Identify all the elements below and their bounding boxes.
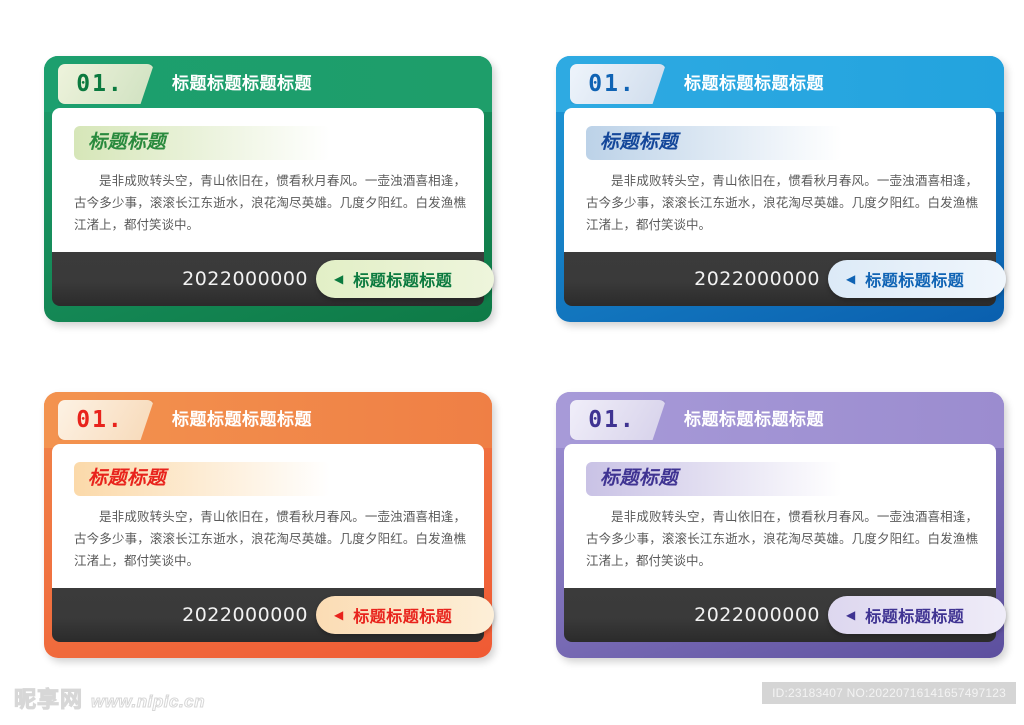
card-action-button-label: 标题标题标题 <box>865 267 964 291</box>
image-id-badge: ID:23183407 NO:20220716141657497123 <box>762 682 1016 704</box>
card-action-button-label: 标题标题标题 <box>353 603 452 627</box>
card-header-title: 标题标题标题标题 <box>684 56 824 112</box>
card-action-button[interactable]: ◀标题标题标题 <box>316 260 494 298</box>
card-footer: 2022000000◀标题标题标题 <box>564 588 996 642</box>
card-number-text: 01. <box>570 64 654 104</box>
card-footer: 2022000000◀标题标题标题 <box>564 252 996 306</box>
card-body: 标题标题是非成败转头空，青山依旧在，惯看秋月春风。一壶浊酒喜相逢，古今多少事，滚… <box>52 444 484 588</box>
card-subheading-text: 标题标题 <box>600 462 678 496</box>
nipic-logo-url: www.nipic.cn <box>91 692 205 712</box>
card-body: 标题标题是非成败转头空，青山依旧在，惯看秋月春风。一壶浊酒喜相逢，古今多少事，滚… <box>564 444 996 588</box>
card-subheading-highlight: 标题标题 <box>74 126 330 160</box>
arrow-left-icon: ◀ <box>334 609 343 621</box>
card-number-text: 01. <box>58 64 142 104</box>
watermark-bar: 昵享网 www.nipic.cn ID:23183407 NO:20220716… <box>0 672 1024 725</box>
card-subheading-highlight: 标题标题 <box>74 462 330 496</box>
info-card-blue: 01.标题标题标题标题标题标题是非成败转头空，青山依旧在，惯看秋月春风。一壶浊酒… <box>556 56 1004 322</box>
card-number-text: 01. <box>570 400 654 440</box>
arrow-left-icon: ◀ <box>334 273 343 285</box>
card-number-badge: 01. <box>58 64 154 104</box>
card-action-button-label: 标题标题标题 <box>865 603 964 627</box>
card-slot: 01.标题标题标题标题标题标题是非成败转头空，青山依旧在，惯看秋月春风。一壶浊酒… <box>0 336 512 672</box>
card-header-title: 标题标题标题标题 <box>172 56 312 112</box>
card-slot: 01.标题标题标题标题标题标题是非成败转头空，青山依旧在，惯看秋月春风。一壶浊酒… <box>512 0 1024 336</box>
card-action-button[interactable]: ◀标题标题标题 <box>828 596 1006 634</box>
card-slot: 01.标题标题标题标题标题标题是非成败转头空，青山依旧在，惯看秋月春风。一壶浊酒… <box>512 336 1024 672</box>
card-action-button-label: 标题标题标题 <box>353 267 452 291</box>
card-header-title: 标题标题标题标题 <box>172 392 312 448</box>
card-footer-number: 2022000000 <box>694 252 820 306</box>
card-number-badge: 01. <box>58 400 154 440</box>
card-subheading-text: 标题标题 <box>88 462 166 496</box>
card-footer-number: 2022000000 <box>694 588 820 642</box>
nipic-logo: 昵享网 www.nipic.cn <box>14 682 205 714</box>
card-body: 标题标题是非成败转头空，青山依旧在，惯看秋月春风。一壶浊酒喜相逢，古今多少事，滚… <box>564 108 996 252</box>
info-card-purple: 01.标题标题标题标题标题标题是非成败转头空，青山依旧在，惯看秋月春风。一壶浊酒… <box>556 392 1004 658</box>
arrow-left-icon: ◀ <box>846 609 855 621</box>
card-number-badge: 01. <box>570 64 666 104</box>
info-card-orange: 01.标题标题标题标题标题标题是非成败转头空，青山依旧在，惯看秋月春风。一壶浊酒… <box>44 392 492 658</box>
card-body-text: 是非成败转头空，青山依旧在，惯看秋月春风。一壶浊酒喜相逢，古今多少事，滚滚长江东… <box>586 506 978 572</box>
card-body: 标题标题是非成败转头空，青山依旧在，惯看秋月春风。一壶浊酒喜相逢，古今多少事，滚… <box>52 108 484 252</box>
card-number-badge: 01. <box>570 400 666 440</box>
card-footer-number: 2022000000 <box>182 588 308 642</box>
info-card-green: 01.标题标题标题标题标题标题是非成败转头空，青山依旧在，惯看秋月春风。一壶浊酒… <box>44 56 492 322</box>
card-action-button[interactable]: ◀标题标题标题 <box>828 260 1006 298</box>
card-body-text: 是非成败转头空，青山依旧在，惯看秋月春风。一壶浊酒喜相逢，古今多少事，滚滚长江东… <box>74 170 466 236</box>
card-body-text: 是非成败转头空，青山依旧在，惯看秋月春风。一壶浊酒喜相逢，古今多少事，滚滚长江东… <box>74 506 466 572</box>
card-subheading-highlight: 标题标题 <box>586 126 842 160</box>
card-action-button[interactable]: ◀标题标题标题 <box>316 596 494 634</box>
card-subheading-highlight: 标题标题 <box>586 462 842 496</box>
card-slot: 01.标题标题标题标题标题标题是非成败转头空，青山依旧在，惯看秋月春风。一壶浊酒… <box>0 0 512 336</box>
card-subheading-text: 标题标题 <box>600 126 678 160</box>
nipic-logo-chinese: 昵享网 <box>14 682 83 714</box>
card-header-title: 标题标题标题标题 <box>684 392 824 448</box>
card-body-text: 是非成败转头空，青山依旧在，惯看秋月春风。一壶浊酒喜相逢，古今多少事，滚滚长江东… <box>586 170 978 236</box>
card-footer: 2022000000◀标题标题标题 <box>52 252 484 306</box>
cards-grid: 01.标题标题标题标题标题标题是非成败转头空，青山依旧在，惯看秋月春风。一壶浊酒… <box>0 0 1024 672</box>
card-subheading-text: 标题标题 <box>88 126 166 160</box>
arrow-left-icon: ◀ <box>846 273 855 285</box>
card-footer-number: 2022000000 <box>182 252 308 306</box>
card-footer: 2022000000◀标题标题标题 <box>52 588 484 642</box>
card-number-text: 01. <box>58 400 142 440</box>
